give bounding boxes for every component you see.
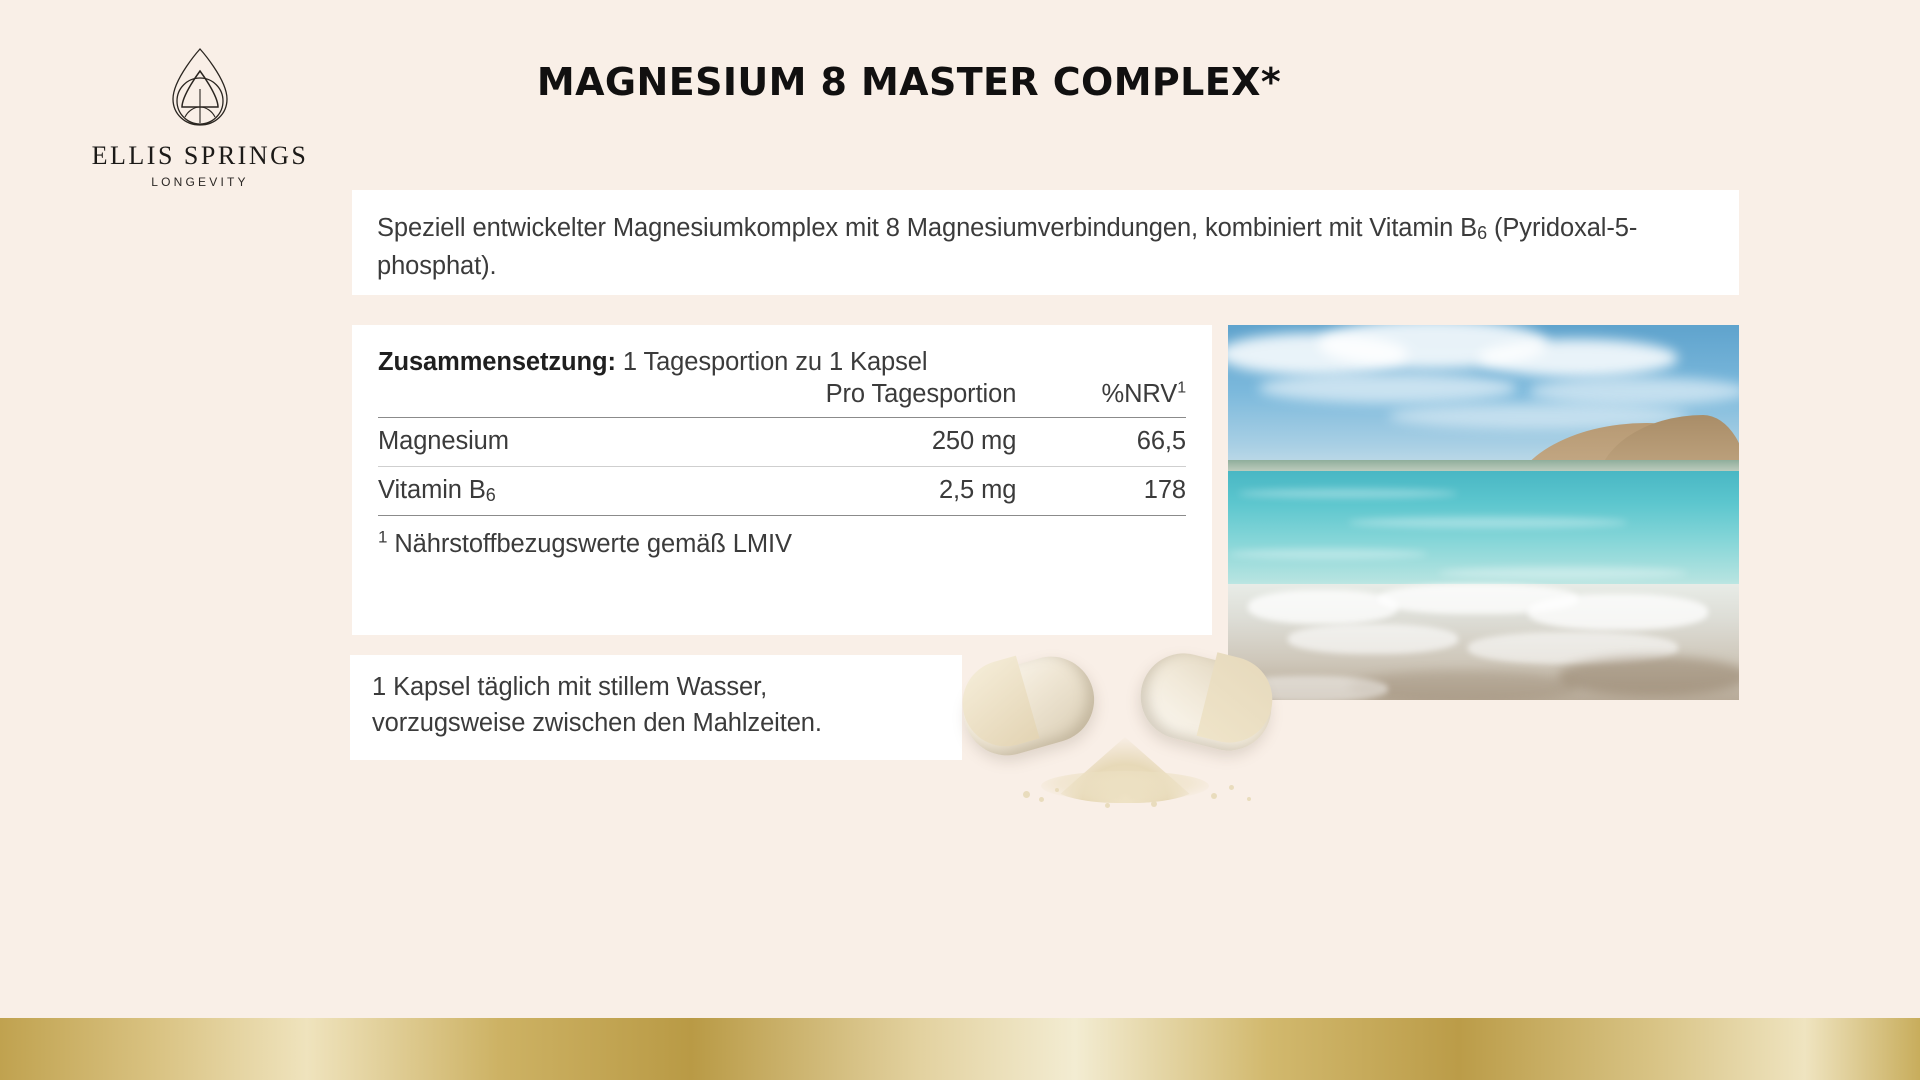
nutrient-nrv: 178	[1016, 466, 1186, 515]
nutrient-amount: 2,5 mg	[750, 466, 1017, 515]
brand-name: ELLIS SPRINGS	[85, 143, 315, 169]
nutrient-name: Vitamin B6	[378, 466, 750, 515]
table-header-row: Pro Tagesportion %NRV1	[378, 380, 1186, 418]
page-title: MAGNESIUM 8 MASTER COMPLEX*	[449, 60, 1369, 104]
nutrient-amount: 250 mg	[750, 417, 1017, 466]
table-row: Vitamin B6 2,5 mg 178	[378, 466, 1186, 515]
description-line-2-subscript: 6	[1477, 223, 1487, 243]
column-header-name	[378, 380, 750, 418]
photo-water	[1228, 471, 1739, 599]
nutrient-name: Magnesium	[378, 417, 750, 466]
footnote-text: Nährstoffbezugswerte gemäß LMIV	[387, 530, 792, 558]
column-header-amount: Pro Tagesportion	[750, 380, 1017, 418]
leaf-droplet-icon	[161, 45, 239, 135]
composition-footnote: 1 Nährstoffbezugswerte gemäß LMIV	[378, 530, 1186, 559]
dosage-panel: 1 Kapsel täglich mit stillem Wasser, vor…	[350, 655, 962, 760]
nutrient-nrv: 66,5	[1016, 417, 1186, 466]
nrv-footnote-marker: 1	[1177, 379, 1186, 396]
brand-logo: ELLIS SPRINGS LONGEVITY	[85, 45, 315, 188]
dosage-line-1: 1 Kapsel täglich mit stillem Wasser,	[372, 669, 940, 705]
bottom-gold-bar	[0, 1018, 1920, 1080]
table-row: Magnesium 250 mg 66,5	[378, 417, 1186, 466]
description-line-1: Speziell entwickelter Magnesiumkomplex m…	[377, 214, 1453, 242]
composition-panel: Zusammensetzung: 1 Tagesportion zu 1 Kap…	[352, 325, 1212, 635]
composition-heading: Zusammensetzung: 1 Tagesportion zu 1 Kap…	[378, 347, 1186, 378]
dead-sea-shoreline-photo	[1228, 325, 1739, 700]
footnote-marker: 1	[378, 528, 387, 547]
powder-spread	[1041, 771, 1209, 801]
composition-label: Zusammensetzung:	[378, 348, 616, 376]
description-line-2-prefix: B	[1460, 214, 1477, 242]
dosage-line-2: vorzugsweise zwischen den Mahlzeiten.	[372, 705, 940, 741]
open-capsule-with-powder-illustration	[955, 645, 1355, 845]
column-header-nrv: %NRV1	[1016, 380, 1186, 418]
description-text: Speziell entwickelter Magnesiumkomplex m…	[377, 210, 1714, 285]
composition-serving: 1 Tagesportion zu 1 Kapsel	[616, 348, 928, 376]
brand-tagline: LONGEVITY	[85, 176, 315, 188]
nutrition-table: Pro Tagesportion %NRV1 Magnesium 250 mg …	[378, 380, 1186, 516]
description-panel: Speziell entwickelter Magnesiumkomplex m…	[352, 190, 1739, 295]
